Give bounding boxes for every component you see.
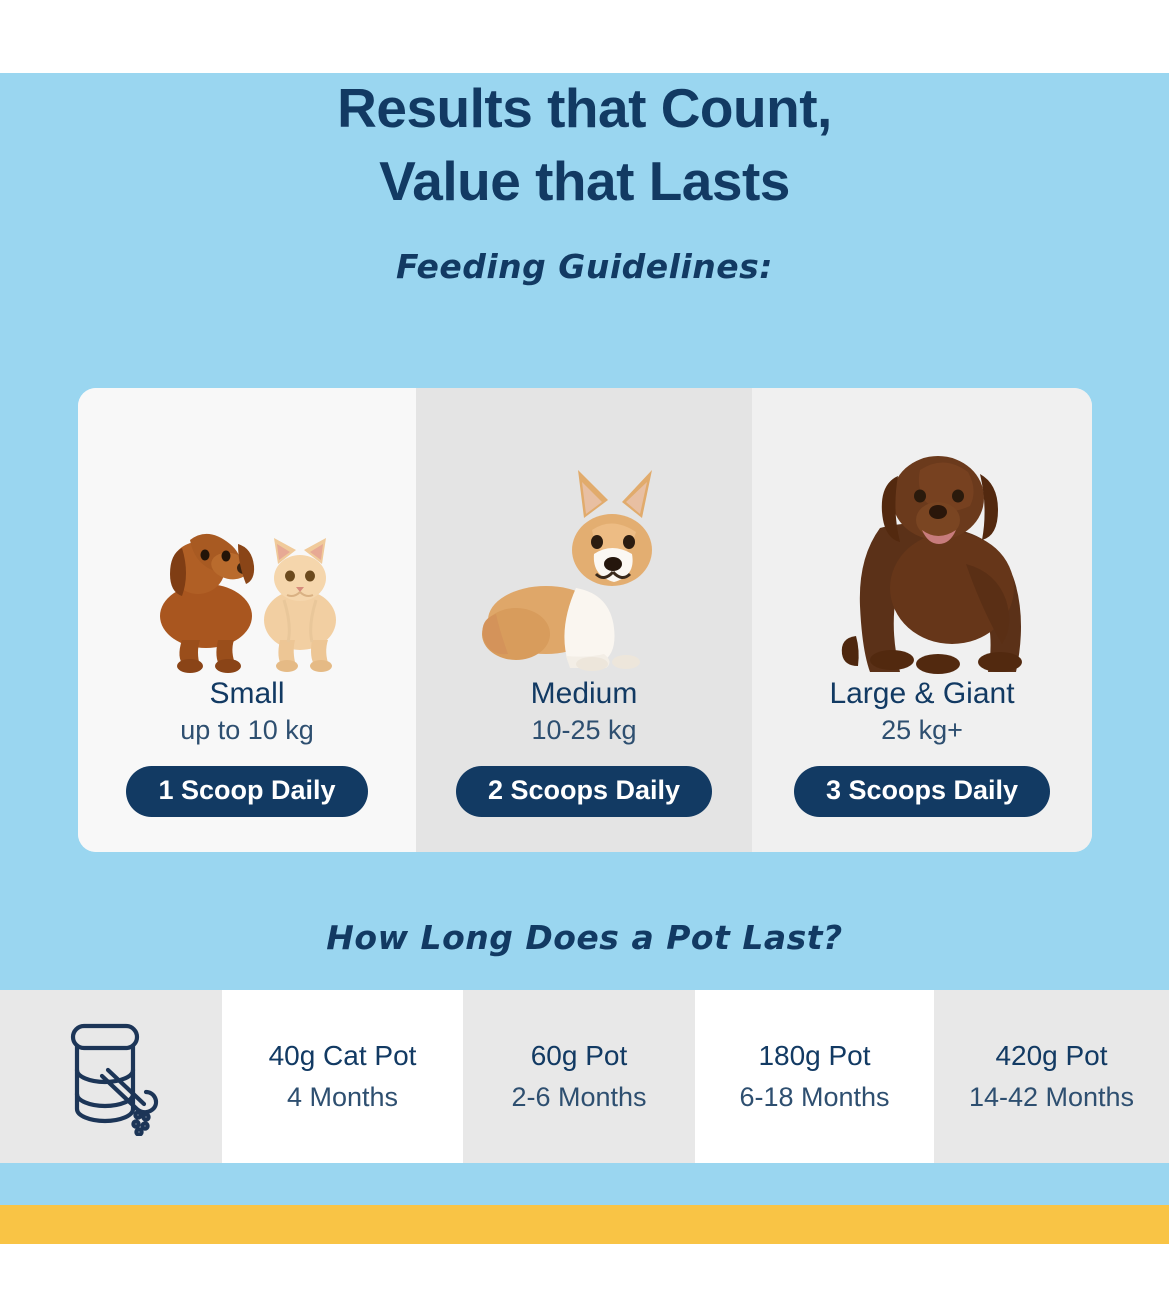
page-title-line-2: Value that Lasts — [0, 145, 1169, 218]
size-name: Large & Giant — [829, 678, 1014, 710]
page-title: Results that Count, Value that Lasts — [0, 72, 1169, 217]
small-dog-and-cat-photo — [78, 388, 416, 678]
size-weight: 25 kg+ — [881, 715, 963, 746]
pot-size-label: 60g Pot — [531, 1040, 628, 1072]
scoop-dose-badge-large[interactable]: 3 Scoops Daily — [794, 766, 1050, 817]
page-title-line-1: Results that Count, — [0, 72, 1169, 145]
bottom-blue-stripe — [0, 1163, 1169, 1205]
scoop-dose-badge-medium[interactable]: 2 Scoops Daily — [456, 766, 712, 817]
pot-with-scoop-icon — [0, 1018, 222, 1136]
pot-duration-label: 6-18 Months — [739, 1082, 889, 1113]
bottom-white-band — [0, 1244, 1169, 1299]
pot-size-label: 40g Cat Pot — [269, 1040, 417, 1072]
pot-duration-table: 40g Cat Pot 4 Months 60g Pot 2-6 Months … — [0, 990, 1169, 1163]
pot-duration-cell: 40g Cat Pot 4 Months — [222, 990, 463, 1163]
how-long-heading: How Long Does a Pot Last? — [0, 918, 1169, 957]
feeding-guidelines-card: Small up to 10 kg 1 Scoop Daily — [78, 388, 1092, 852]
pot-size-label: 180g Pot — [758, 1040, 870, 1072]
feeding-panel-small: Small up to 10 kg 1 Scoop Daily — [78, 388, 416, 852]
top-white-band — [0, 0, 1169, 73]
size-name: Small — [209, 678, 284, 710]
bottom-yellow-stripe — [0, 1205, 1169, 1244]
feeding-guidelines-heading: Feeding Guidelines: — [0, 247, 1169, 286]
pot-duration-label: 4 Months — [287, 1082, 398, 1113]
pot-duration-cell: 180g Pot 6-18 Months — [695, 990, 934, 1163]
size-weight: up to 10 kg — [180, 715, 314, 746]
scoop-dose-badge-small[interactable]: 1 Scoop Daily — [126, 766, 367, 817]
pot-duration-label: 14-42 Months — [969, 1082, 1134, 1113]
promo-infographic: Results that Count, Value that Lasts Fee… — [0, 0, 1169, 1299]
feeding-panel-medium: Medium 10-25 kg 2 Scoops Daily — [416, 388, 752, 852]
pot-size-label: 420g Pot — [995, 1040, 1107, 1072]
pot-icon-cell — [0, 990, 222, 1163]
pot-duration-cell: 420g Pot 14-42 Months — [934, 990, 1169, 1163]
medium-corgi-dog-photo — [416, 388, 752, 678]
size-name: Medium — [531, 678, 638, 710]
pot-duration-cell: 60g Pot 2-6 Months — [463, 990, 695, 1163]
pot-duration-label: 2-6 Months — [511, 1082, 646, 1113]
large-labrador-dog-photo — [752, 388, 1092, 678]
size-weight: 10-25 kg — [531, 715, 636, 746]
feeding-panel-large: Large & Giant 25 kg+ 3 Scoops Daily — [752, 388, 1092, 852]
